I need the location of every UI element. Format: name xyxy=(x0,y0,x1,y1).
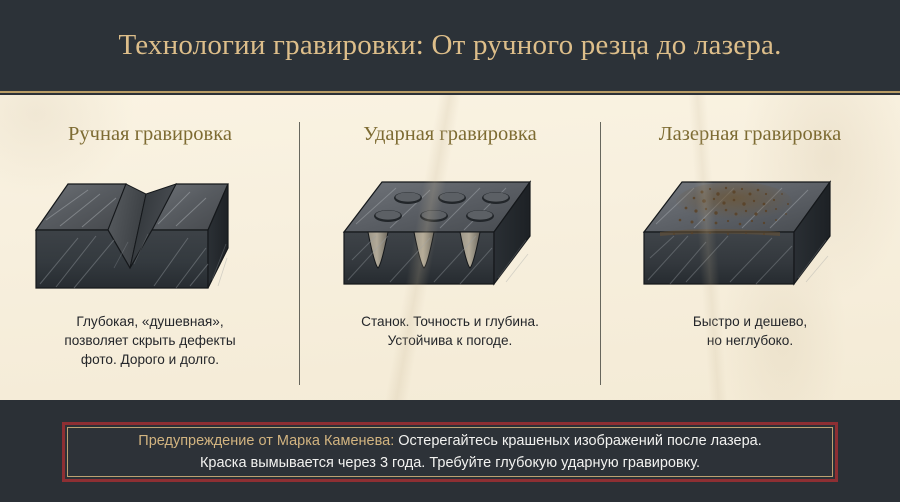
column-caption: Глубокая, «душевная», позволяет скрыть д… xyxy=(19,312,281,369)
caption-line: Глубокая, «душевная», xyxy=(19,312,281,331)
column-caption: Станок. Точность и глубина. Устойчива к … xyxy=(319,312,581,350)
warning-line-1-text: Остерегайтесь крашеных изображений после… xyxy=(394,433,761,449)
caption-line: фото. Дорого и долго. xyxy=(19,350,281,369)
column-caption: Быстро и дешево, но неглубоко. xyxy=(619,312,881,350)
caption-line: Устойчива к погоде. xyxy=(319,331,581,350)
infographic-slide: Технологии гравировки: От ручного резца … xyxy=(0,0,900,502)
granite-block-with-cone-holes-icon xyxy=(330,168,570,296)
caption-line: позволяет скрыть дефекты xyxy=(19,331,281,350)
columns-container: Ручная гравировка xyxy=(0,95,900,400)
header-bar: Технологии гравировки: От ручного резца … xyxy=(0,0,900,93)
caption-line: Станок. Точность и глубина. xyxy=(319,312,581,331)
column-impact-engraving: Ударная гравировка xyxy=(300,95,600,400)
column-hand-engraving: Ручная гравировка xyxy=(0,95,300,400)
column-title: Ударная гравировка xyxy=(363,123,536,146)
content-panel: Ручная гравировка xyxy=(0,95,900,400)
warning-line-2: Краска вымывается через 3 года. Требуйте… xyxy=(200,452,700,474)
warning-banner-zone: Предупреждение от Марка Каменева: Остере… xyxy=(0,400,900,502)
caption-line: но неглубоко. xyxy=(619,331,881,350)
column-laser-engraving: Лазерная гравировка xyxy=(600,95,900,400)
warning-banner-inner: Предупреждение от Марка Каменева: Остере… xyxy=(67,427,833,477)
caption-line: Быстро и дешево, xyxy=(619,312,881,331)
warning-banner: Предупреждение от Марка Каменева: Остере… xyxy=(62,422,838,482)
granite-block-with-surface-speckles-icon xyxy=(630,168,870,296)
column-title: Лазерная гравировка xyxy=(659,123,841,146)
granite-block-with-v-groove-icon xyxy=(30,168,270,296)
column-title: Ручная гравировка xyxy=(68,123,232,146)
page-title: Технологии гравировки: От ручного резца … xyxy=(118,29,781,62)
warning-author-label: Предупреждение от Марка Каменева: xyxy=(138,433,394,449)
warning-line-1: Предупреждение от Марка Каменева: Остере… xyxy=(138,430,761,452)
